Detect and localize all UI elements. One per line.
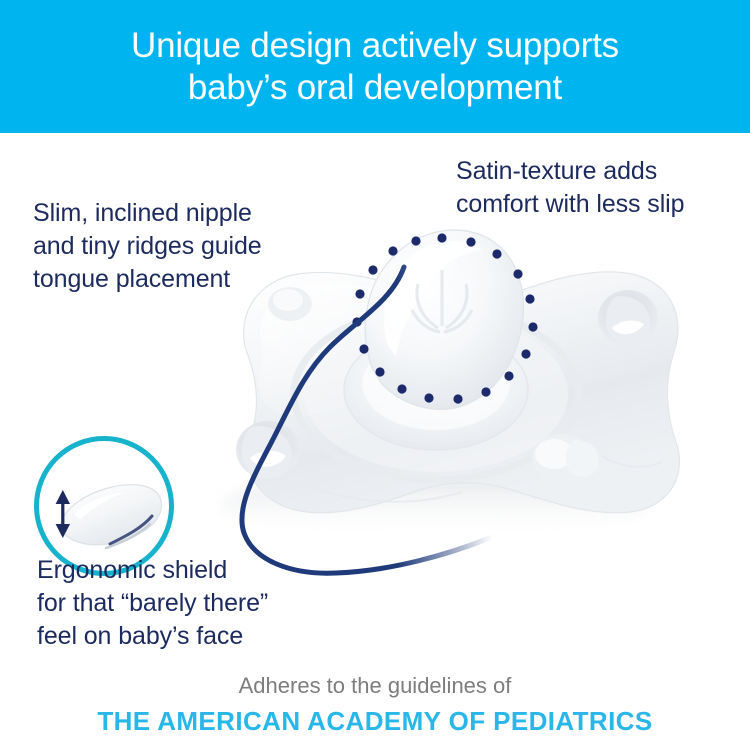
callout-satin: Satin-texture adds comfort with less sli…	[456, 155, 684, 221]
callout-nipple-line-1: Slim, inclined nipple	[33, 197, 262, 230]
header-banner: Unique design actively supports baby’s o…	[0, 0, 750, 133]
callout-shield: Ergonomic shield for that “barely there”…	[37, 554, 268, 653]
callout-shield-line-1: Ergonomic shield	[37, 554, 268, 587]
footer: Adheres to the guidelines of THE AMERICA…	[0, 660, 750, 750]
callout-shield-line-2: for that “barely there”	[37, 587, 268, 620]
header-title-line-1: Unique design actively supports	[131, 25, 619, 67]
callout-nipple-line-3: tongue placement	[33, 263, 262, 296]
leader-line-path	[242, 267, 492, 573]
callout-shield-line-3: feel on baby’s face	[37, 620, 268, 653]
callout-nipple-line-2: and tiny ridges guide	[33, 230, 262, 263]
infographic-root: Unique design actively supports baby’s o…	[0, 0, 750, 750]
callout-satin-line-1: Satin-texture adds	[456, 155, 684, 188]
product-image-stage: Slim, inclined nipple and tiny ridges gu…	[0, 133, 750, 653]
callout-satin-line-2: comfort with less slip	[456, 188, 684, 221]
footer-organization-name: THE AMERICAN ACADEMY OF PEDIATRICS	[97, 704, 652, 738]
footer-lead-text: Adheres to the guidelines of	[239, 672, 512, 700]
header-title-line-2: baby’s oral development	[188, 67, 562, 109]
callout-nipple: Slim, inclined nipple and tiny ridges gu…	[33, 197, 262, 296]
